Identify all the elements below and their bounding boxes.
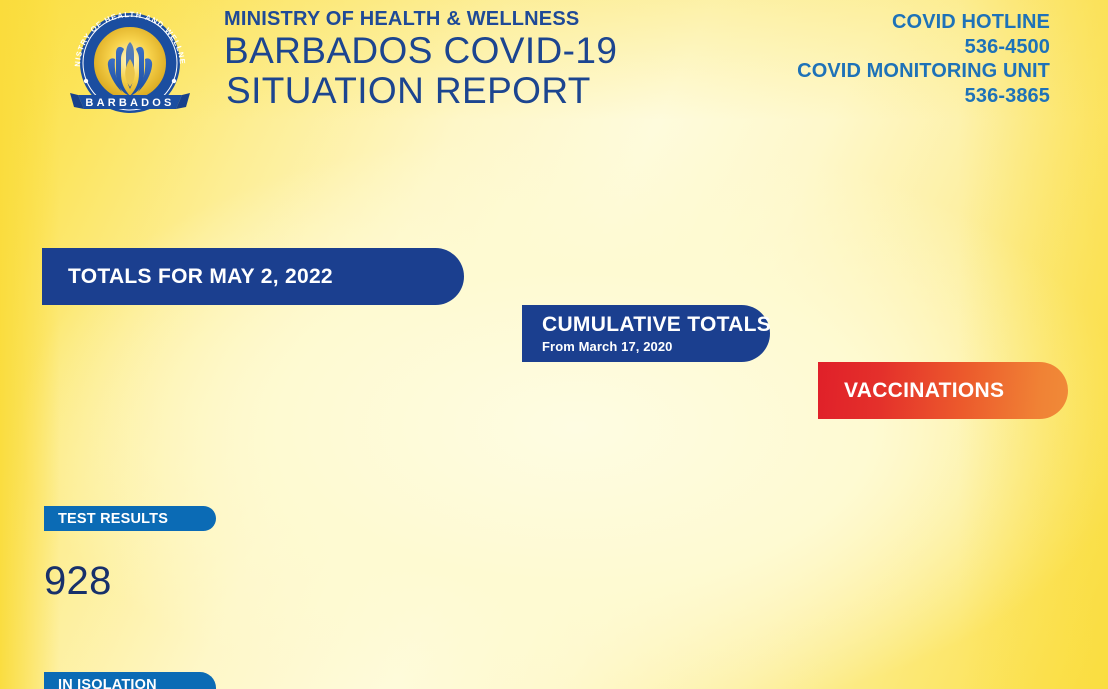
value-test-results: 928 bbox=[44, 559, 1108, 603]
label-pill-in-isolation-facilities: IN ISOLATION FACILITIES bbox=[44, 672, 216, 689]
vaccinations-heading-pill: VACCINATIONS bbox=[818, 362, 1068, 419]
cumulative-totals-heading-text: CUMULATIVE TOTALS bbox=[542, 313, 770, 337]
daily-totals-heading-text: TOTALS FOR MAY 2, 2022 bbox=[68, 265, 464, 289]
covid-monitoring-unit-label: COVID MONITORING UNIT bbox=[797, 59, 1050, 84]
report-title-line-1: BARBADOS COVID-19 bbox=[224, 31, 617, 71]
covid-monitoring-unit-number[interactable]: 536-3865 bbox=[797, 84, 1050, 109]
covid-hotline-block: COVID HOTLINE 536-4500 COVID MONITORING … bbox=[797, 10, 1050, 108]
svg-text:BARBADOS: BARBADOS bbox=[85, 97, 174, 109]
label-in-isolation-facilities-line-1: IN ISOLATION bbox=[58, 677, 216, 689]
label-pill-test-results: TEST RESULTS bbox=[44, 506, 216, 531]
report-title-block: MINISTRY OF HEALTH & WELLNESS BARBADOS C… bbox=[224, 8, 617, 111]
report-title-line-2: SITUATION REPORT bbox=[224, 71, 617, 111]
covid-hotline-label: COVID HOTLINE bbox=[797, 10, 1050, 35]
ministry-of-health-logo: MINISTRY OF HEALTH AND WELLNESS bbox=[66, 9, 194, 117]
daily-totals-heading-pill: TOTALS FOR MAY 2, 2022 bbox=[42, 248, 464, 305]
ministry-name: MINISTRY OF HEALTH & WELLNESS bbox=[224, 8, 617, 30]
vaccinations-heading-text: VACCINATIONS bbox=[844, 379, 1068, 403]
label-test-results: TEST RESULTS bbox=[58, 511, 216, 527]
report-header: MINISTRY OF HEALTH AND WELLNESS bbox=[0, 0, 1108, 122]
covid-situation-report-poster: MINISTRY OF HEALTH AND WELLNESS bbox=[0, 0, 1108, 689]
cumulative-totals-heading-pill: CUMULATIVE TOTALS From March 17, 2020 bbox=[522, 305, 770, 362]
cumulative-totals-subheading-text: From March 17, 2020 bbox=[542, 339, 770, 354]
covid-hotline-number[interactable]: 536-4500 bbox=[797, 35, 1050, 60]
